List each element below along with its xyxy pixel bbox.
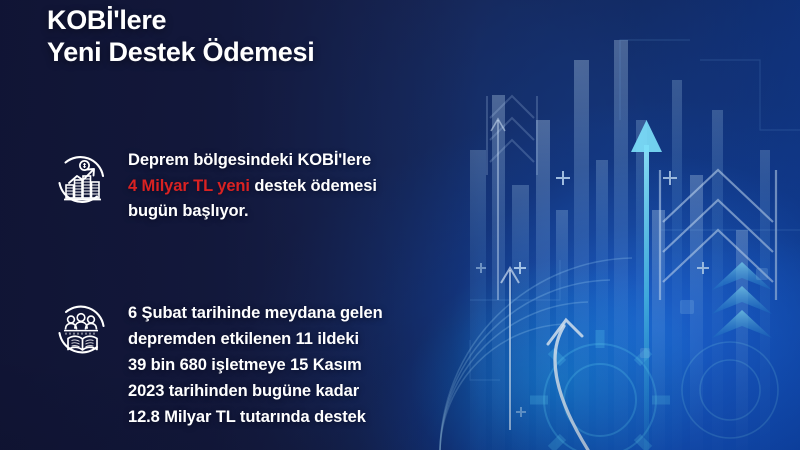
- info-block-support-payment: Deprem bölgesindeki KOBİ'lere 4 Milyar T…: [52, 148, 377, 225]
- info-block-1-text: Deprem bölgesindeki KOBİ'lere 4 Milyar T…: [128, 148, 377, 225]
- highlight-business-count: 39 bin 680 işletmeye: [128, 356, 286, 374]
- infographic-canvas: KOBİ'lere Yeni Destek Ödemesi: [0, 0, 800, 450]
- line-3: bugün başlıyor.: [128, 202, 248, 220]
- highlight-amount: 4 Milyar TL yeni: [128, 177, 250, 195]
- line-2: depremden etkilenen 11 ildeki: [128, 330, 359, 348]
- highlight-total-amount: 12.8 Milyar TL: [128, 408, 235, 426]
- growth-bar-chart-coin-icon: [52, 150, 110, 208]
- line-4: 2023 tarihinden bugüne kadar: [128, 382, 359, 400]
- info-block-2-text: 6 Şubat tarihinde meydana gelen depremde…: [128, 300, 383, 430]
- line-5-rest: tutarında destek: [235, 408, 365, 426]
- line-2-rest: destek ödemesi: [250, 177, 377, 195]
- line-3-rest: 15 Kasım: [286, 356, 362, 374]
- page-title: KOBİ'lere Yeni Destek Ödemesi: [47, 4, 314, 68]
- line-1: 6 Şubat tarihinde meydana gelen: [128, 304, 383, 322]
- people-group-book-icon: [52, 300, 110, 358]
- info-block-earthquake-summary: 6 Şubat tarihinde meydana gelen depremde…: [52, 300, 383, 430]
- line-1: Deprem bölgesindeki KOBİ'lere: [128, 151, 371, 169]
